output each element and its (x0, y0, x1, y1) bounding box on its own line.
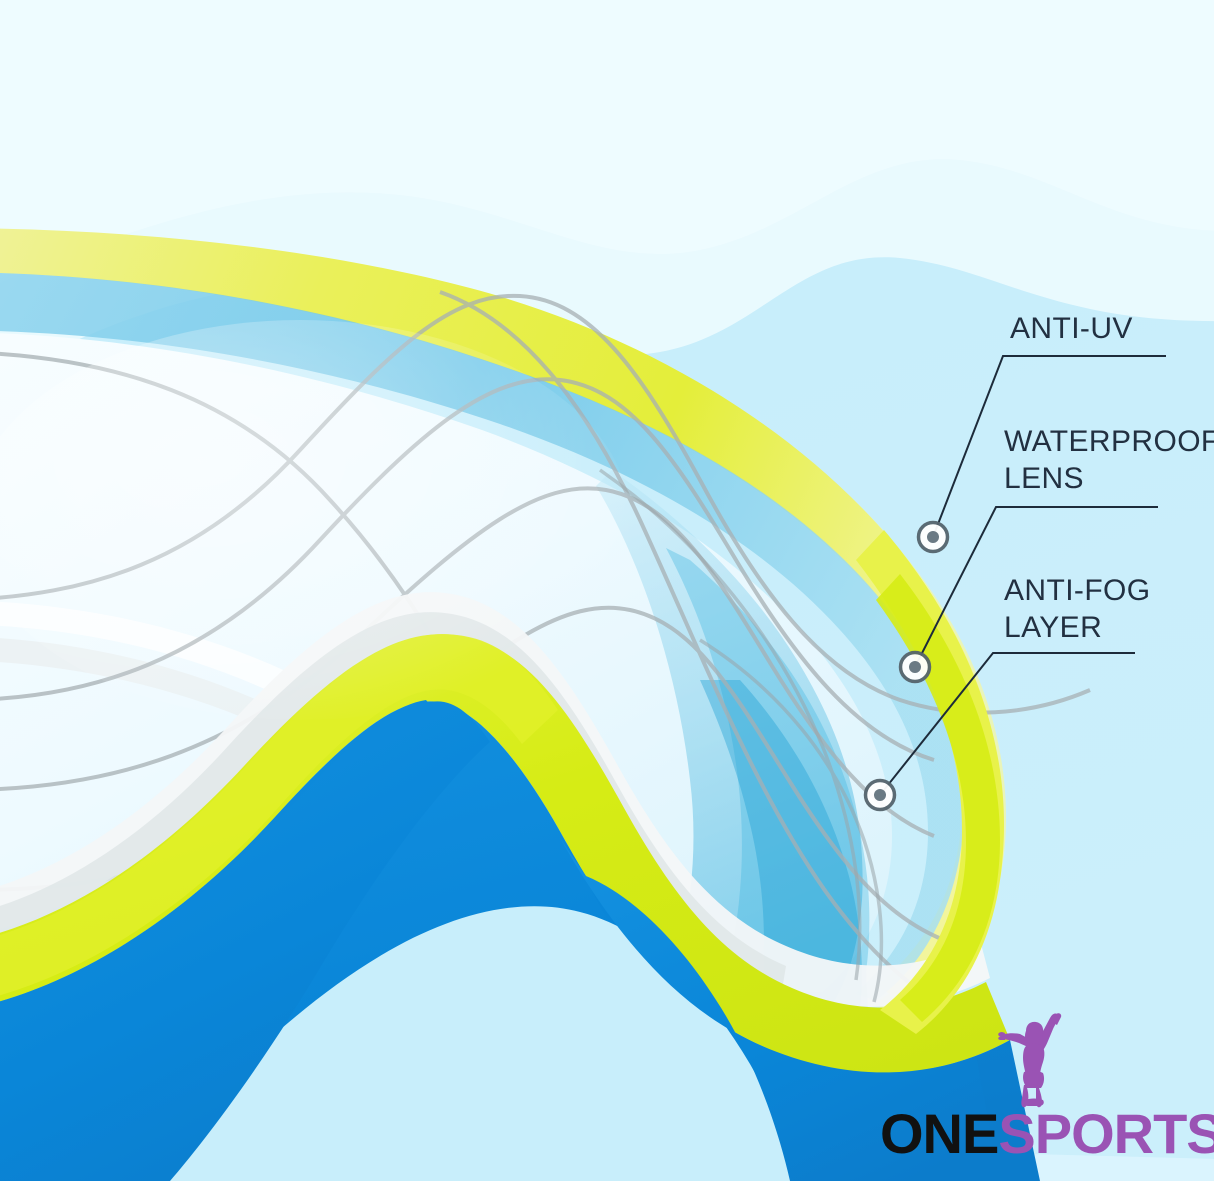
callout-label-anti-uv: ANTI-UV (1010, 310, 1133, 347)
logo-word-sports: SPORTS (998, 1102, 1214, 1165)
jumping-woman-icon (976, 1012, 1096, 1112)
callout-label-anti-fog-layer: ANTI-FOG LAYER (1004, 572, 1151, 646)
lens-highlight-glow (0, 320, 630, 720)
callout-label-waterproof-lens: WATERPROOF LENS (1004, 423, 1214, 497)
logo-word-one: ONE (880, 1102, 998, 1165)
logo-wordmark: ONESPORTS (880, 1104, 1200, 1164)
onesports-logo[interactable]: ONESPORTS (880, 1012, 1200, 1172)
product-infographic: ANTI-UV WATERPROOF LENS ANTI-FOG LAYER (0, 0, 1214, 1181)
